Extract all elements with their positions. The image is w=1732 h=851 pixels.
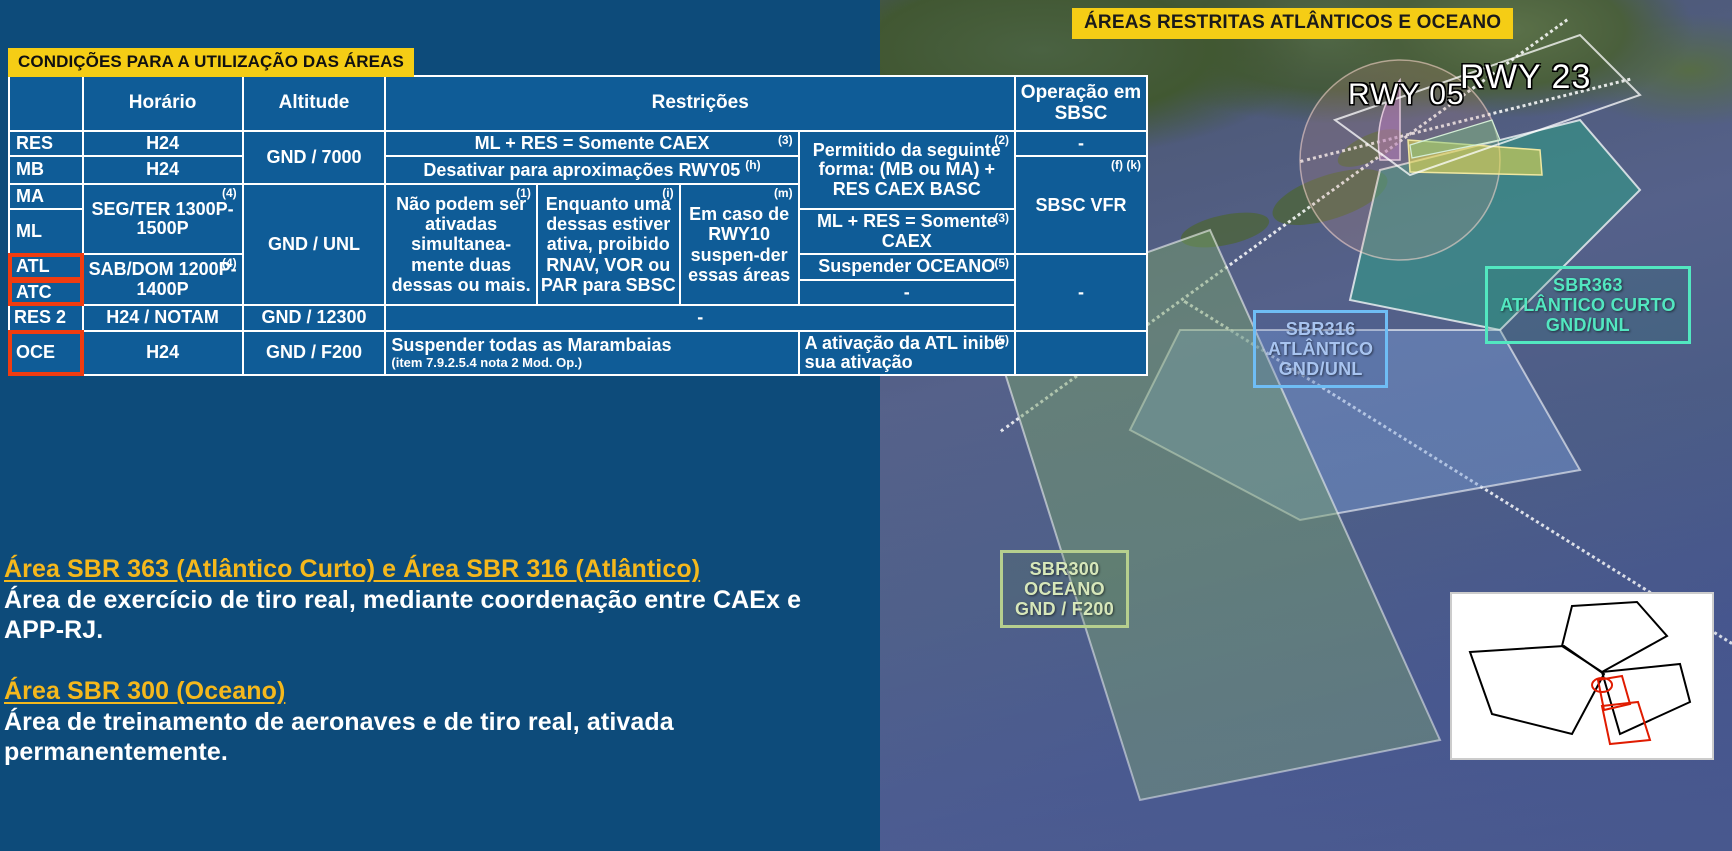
map-area-label-sbr363: SBR363 ATLÂNTICO CURTO GND/UNL: [1485, 266, 1691, 344]
altitude-cell-gnd-unl: GND / UNL: [243, 184, 386, 305]
restricao-em-caso-text: Em caso de RWY10 suspen-der essas áreas: [688, 204, 790, 284]
horario-cell-atl-atc: (4) SAB/DOM 1200P-1400P: [83, 254, 243, 305]
horario-cell-res: H24: [83, 131, 243, 156]
restricao-nao-podem-text: Não podem ser ativadas simultanea-mente …: [392, 194, 531, 295]
restricao-cell-ml-res-caex: (3) ML + RES = Somente CAEX: [799, 209, 1015, 254]
area-cell-ma: MA: [9, 184, 83, 209]
conditions-table: Horário Altitude Restrições Operação em …: [8, 75, 1148, 376]
restricao-permitido-text: Permitido da seguinte forma: (MB ou MA) …: [813, 140, 1001, 199]
area-cell-oce: OCE: [9, 331, 83, 376]
horario-cell-oce: H24: [83, 331, 243, 376]
operacao-cell-res: -: [1015, 131, 1147, 156]
horario-atl-atc-text: SAB/DOM 1200P-1400P: [89, 259, 237, 298]
note-body-sbr363-sbr316: Área de exercício de tiro real, mediante…: [4, 586, 864, 645]
operacao-cell-dash: -: [1015, 254, 1147, 330]
restricao-nao-podem-note: (1): [516, 187, 531, 200]
restricao-suspender-oceano-text: Suspender OCEANO: [818, 256, 995, 276]
area-cell-res2: RES 2: [9, 305, 83, 330]
rwy-23-label: RWY 23: [1460, 58, 1591, 97]
notes-section: Área SBR 363 (Atlântico Curto) e Área SB…: [4, 555, 864, 767]
restricao-cell-atc-dash: -: [799, 280, 1015, 305]
operacao-cell-oce: [1015, 331, 1147, 376]
restricao-enquanto-note: (i): [662, 187, 673, 200]
horario-ma-ml-text: SEG/TER 1300P-1500P: [92, 199, 234, 238]
restricao-ml-res-text: ML + RES = Somente CAEX: [817, 211, 997, 250]
horario-atl-atc-note: (4): [222, 257, 237, 270]
area-cell-res: RES: [9, 131, 83, 156]
header-restricoes: Restrições: [385, 76, 1015, 131]
horario-cell-mb: H24: [83, 156, 243, 183]
header-altitude: Altitude: [243, 76, 386, 131]
header-horario: Horário: [83, 76, 243, 131]
note-heading-sbr363-sbr316: Área SBR 363 (Atlântico Curto) e Área SB…: [4, 555, 864, 584]
altitude-cell-res-mb: GND / 7000: [243, 131, 386, 184]
restricao-cell-mb: Desativar para aproximações RWY05 (h): [385, 156, 798, 183]
restricao-mb-text: Desativar para aproximações RWY05: [423, 160, 740, 180]
area-cell-mb: MB: [9, 156, 83, 183]
table-header-row: Horário Altitude Restrições Operação em …: [9, 76, 1147, 131]
restricao-cell-em-caso: (m) Em caso de RWY10 suspen-der essas ár…: [680, 184, 799, 305]
restricao-cell-enquanto: (i) Enquanto uma dessas estiver ativa, p…: [537, 184, 680, 305]
map-title-banner: ÁREAS RESTRITAS ATLÂNTICOS E OCEANO: [1072, 8, 1513, 39]
restricao-oce-atl-text: A ativação da ATL inibe sua ativação: [805, 333, 1005, 372]
restricao-oce-marambaias-sub: (item 7.9.2.5.4 nota 2 Mod. Op.): [391, 356, 794, 370]
restricao-oce-marambaias-text: Suspender todas as Marambaias: [391, 335, 671, 355]
restricao-permitido-note: (2): [994, 134, 1009, 147]
altitude-cell-oce: GND / F200: [243, 331, 386, 376]
note-body-sbr300: Área de treinamento de aeronaves e de ti…: [4, 708, 864, 767]
restricao-suspender-oceano-note: (5): [994, 257, 1009, 270]
horario-cell-ma-ml: (4) SEG/TER 1300P-1500P: [83, 184, 243, 254]
operacao-cell-sbsc-vfr: (f) (k) SBSC VFR: [1015, 156, 1147, 254]
restricao-enquanto-text: Enquanto uma dessas estiver ativa, proib…: [541, 194, 676, 295]
table-row-oce: OCE H24 GND / F200 Suspender todas as Ma…: [9, 331, 1147, 376]
table-row-res: RES H24 GND / 7000 ML + RES = Somente CA…: [9, 131, 1147, 156]
restricao-cell-permitido: (2) Permitido da seguinte forma: (MB ou …: [799, 131, 1015, 209]
restricao-res-note: (3): [778, 134, 793, 147]
restricao-mb-note: (h): [745, 158, 760, 172]
notes-spacer: [4, 645, 864, 677]
horario-cell-res2: H24 / NOTAM: [83, 305, 243, 330]
area-cell-atc: ATC: [9, 280, 83, 305]
restricao-ml-res-note: (3): [994, 212, 1009, 225]
area-cell-atl: ATL: [9, 254, 83, 279]
operacao-sbsc-vfr-text: SBSC VFR: [1035, 195, 1126, 215]
header-operacao: Operação em SBSC: [1015, 76, 1147, 131]
restricao-em-caso-note: (m): [774, 187, 793, 200]
restricao-cell-nao-podem: (1) Não podem ser ativadas simultanea-me…: [385, 184, 536, 305]
header-area: [9, 76, 83, 131]
altitude-cell-res2: GND / 12300: [243, 305, 386, 330]
note-heading-sbr300: Área SBR 300 (Oceano): [4, 677, 864, 706]
restricao-cell-res: ML + RES = Somente CAEX (3): [385, 131, 798, 156]
restricao-res-text: ML + RES = Somente CAEX: [475, 133, 710, 153]
restricao-cell-res2: -: [385, 305, 1015, 330]
table-row-res2: RES 2 H24 / NOTAM GND / 12300 -: [9, 305, 1147, 330]
inset-overview-map: [1450, 592, 1714, 760]
map-area-label-sbr316: SBR316 ATLÂNTICO GND/UNL: [1253, 310, 1388, 388]
rwy-05-label: RWY 05: [1348, 78, 1465, 112]
table-title-banner: CONDIÇÕES PARA A UTILIZAÇÃO DAS ÁREAS: [8, 48, 414, 77]
horario-ma-ml-note: (4): [222, 187, 237, 200]
restricao-oce-atl-note: (5): [994, 334, 1009, 347]
map-area-label-sbr300: SBR300 OCEANO GND / F200: [1000, 550, 1129, 628]
area-cell-ml: ML: [9, 209, 83, 254]
restricao-cell-suspender-oceano: (5) Suspender OCEANO: [799, 254, 1015, 279]
restricao-cell-oce-marambaias: Suspender todas as Marambaias (item 7.9.…: [385, 331, 798, 376]
restricao-cell-oce-atl: (5) A ativação da ATL inibe sua ativação: [799, 331, 1015, 376]
operacao-sbsc-vfr-note: (f) (k): [1111, 159, 1141, 172]
